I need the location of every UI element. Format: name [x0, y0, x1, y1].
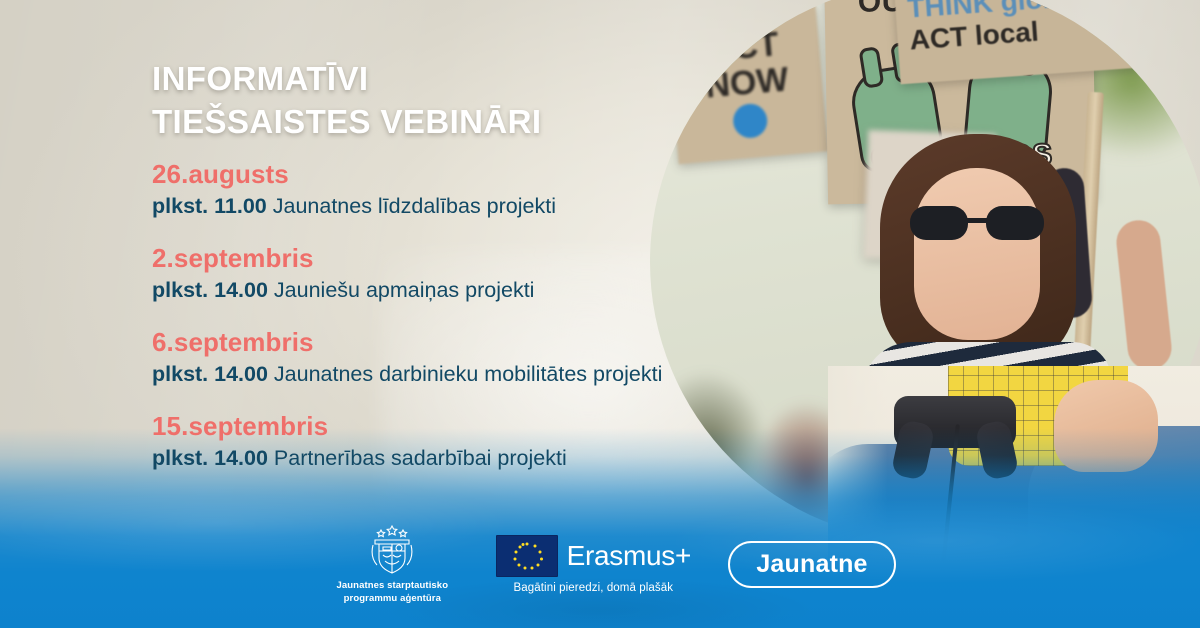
girl-face [914, 168, 1040, 340]
schedule-entry: 15.septembris plkst. 14.00 Partnerības s… [152, 412, 772, 472]
erasmus-logo-row: Erasmus+ [496, 535, 691, 577]
schedule-entry: 2.septembris plkst. 14.00 Jauniešu apmai… [152, 244, 772, 304]
entry-title: Jaunatnes darbinieku mobilitātes projekt… [274, 362, 662, 386]
entry-time: plkst. 14.00 [152, 278, 268, 302]
agency-logo: Jaunatnes starptautisko programmu aģentū… [304, 523, 480, 606]
entry-date: 6.septembris [152, 328, 772, 357]
entry-date: 15.septembris [152, 412, 772, 441]
entry-title: Jaunatnes līdzdalības projekti [273, 194, 556, 218]
sunglasses-lens-left [910, 206, 968, 240]
entry-time: plkst. 11.00 [152, 194, 267, 218]
entry-detail: plkst. 11.00 Jaunatnes līdzdalības proje… [152, 194, 772, 220]
schedule-entry: 26.augusts plkst. 11.00 Jaunatnes līdzda… [152, 160, 772, 220]
sunglasses-bridge [966, 218, 988, 223]
sunglasses-lens-right [986, 206, 1044, 240]
eu-flag-icon [496, 535, 558, 577]
logo-row: Jaunatnes starptautisko programmu aģentū… [0, 522, 1200, 606]
entry-date: 26.augusts [152, 160, 772, 189]
promo-poster: ACT NOW OUR FUTURE is in OUR HANDS THINK… [0, 0, 1200, 628]
jaunatne-badge[interactable]: Jaunatne [728, 541, 895, 588]
erasmus-logo: Erasmus+ Bagātini pieredzi, domā plašāk [488, 535, 698, 594]
schedule-entry: 6.septembris plkst. 14.00 Jaunatnes darb… [152, 328, 772, 388]
erasmus-wordmark: Erasmus+ [567, 542, 691, 570]
headline-line-1: INFORMATĪVI [152, 58, 712, 101]
globe-icon [732, 102, 769, 139]
entry-title: Jauniešu apmaiņas projekti [274, 278, 535, 302]
entry-time: plkst. 14.00 [152, 446, 268, 470]
headline-line-2: TIEŠSAISTES VEBINĀRI [152, 101, 712, 144]
agency-name-line-1: Jaunatnes starptautisko [337, 580, 449, 593]
agency-name: Jaunatnes starptautisko programmu aģentū… [337, 580, 449, 606]
erasmus-tagline: Bagātini pieredzi, domā plašāk [514, 582, 674, 594]
webinar-schedule-list: 26.augusts plkst. 11.00 Jaunatnes līdzda… [152, 160, 772, 472]
agency-name-line-2: programmu aģentūra [337, 593, 449, 606]
entry-title: Partnerības sadarbībai projekti [274, 446, 567, 470]
entry-date: 2.septembris [152, 244, 772, 273]
entry-time: plkst. 14.00 [152, 362, 268, 386]
sunglasses-icon [910, 206, 1044, 240]
entry-detail: plkst. 14.00 Jaunatnes darbinieku mobili… [152, 362, 772, 388]
sign-act-line2: NOW [704, 62, 790, 105]
latvian-coat-of-arms-icon [369, 523, 415, 575]
entry-detail: plkst. 14.00 Partnerības sadarbībai proj… [152, 446, 772, 472]
entry-detail: plkst. 14.00 Jauniešu apmaiņas projekti [152, 278, 772, 304]
eu-stars [497, 536, 557, 576]
page-title: INFORMATĪVI TIEŠSAISTES VEBINĀRI [152, 58, 712, 144]
